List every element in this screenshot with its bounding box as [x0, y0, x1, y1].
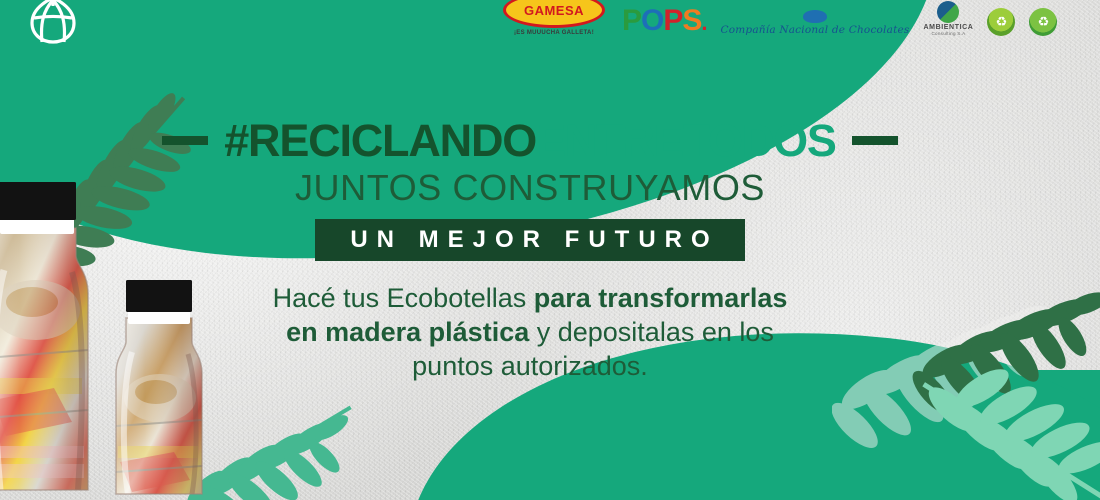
body-line3: puntos autorizados. — [412, 351, 648, 381]
headline-dash-right — [852, 136, 898, 145]
subheadline: JUNTOS CONSTRUYAMOS — [150, 169, 910, 207]
recycle-badge-icon-1: ♻ — [987, 8, 1015, 36]
gamesa-wordmark: GAMESA — [503, 0, 605, 28]
ambientica-wordmark: AMBIENTICA — [924, 24, 974, 31]
pops-letter-s: S — [682, 4, 701, 37]
compania-nacional-de-chocolates-logo: Compañía Nacional de Chocolates — [721, 10, 910, 36]
headline-dash-left — [162, 136, 208, 145]
ambientica-logo: AMBIENTICA Consulting S.A — [924, 1, 974, 36]
pops-letter-o: O — [641, 4, 663, 37]
certification-badge-1: ♻ — [987, 8, 1015, 36]
body-line2-normal: y depositalas en los — [529, 317, 774, 347]
fern-leaf-decoration-bottom-right — [900, 345, 1100, 500]
headline-hashtag: #RECICLANDO — [224, 115, 536, 166]
gamesa-tagline: ¡ES MUUUCHA GALLETA! — [514, 30, 594, 36]
bottle-cap-large — [0, 182, 76, 220]
recycling-campaign-poster: GAMESA ¡ES MUUUCHA GALLETA! POPS. Compañ… — [0, 0, 1100, 500]
certification-badge-2: ♻ — [1029, 8, 1057, 36]
bottle-neck-ring-large — [0, 218, 74, 234]
banner-strip: UN MEJOR FUTURO — [315, 219, 744, 261]
body-copy: Hacé tus Ecobotellas para transformarlas… — [150, 281, 910, 383]
recycle-badge-icon-2: ♻ — [1029, 8, 1057, 36]
partner-logo-strip: GAMESA ¡ES MUUUCHA GALLETA! POPS. Compañ… — [500, 0, 1100, 38]
chocolates-wordmark: Compañía Nacional de Chocolates — [721, 24, 910, 36]
headline-accent: ENTRETODOS — [536, 115, 836, 166]
pops-letter-p1: P — [622, 4, 641, 37]
page-title: #RECICLANDOENTRETODOS — [224, 118, 836, 163]
ambientica-mark-icon — [937, 1, 959, 23]
poster-copy: #RECICLANDOENTRETODOS JUNTOS CONSTRUYAMO… — [150, 118, 910, 383]
body-line1-bold: para transformarlas — [534, 283, 788, 313]
pops-wordmark: POPS. — [622, 6, 707, 36]
pops-letter-p2: P — [663, 4, 682, 37]
gamesa-logo: GAMESA ¡ES MUUUCHA GALLETA! — [500, 0, 608, 36]
brand-leaf-logo — [22, 0, 84, 53]
chocolates-mark-icon — [803, 10, 827, 23]
pops-dot: . — [701, 10, 706, 35]
ambientica-subtitle: Consulting S.A — [931, 31, 965, 36]
pops-logo: POPS. — [622, 6, 707, 36]
headline-row: #RECICLANDOENTRETODOS — [150, 118, 910, 163]
body-line1-normal: Hacé tus Ecobotellas — [273, 283, 534, 313]
ecobottle-large — [0, 182, 104, 500]
body-line2-bold: en madera plástica — [286, 317, 529, 347]
